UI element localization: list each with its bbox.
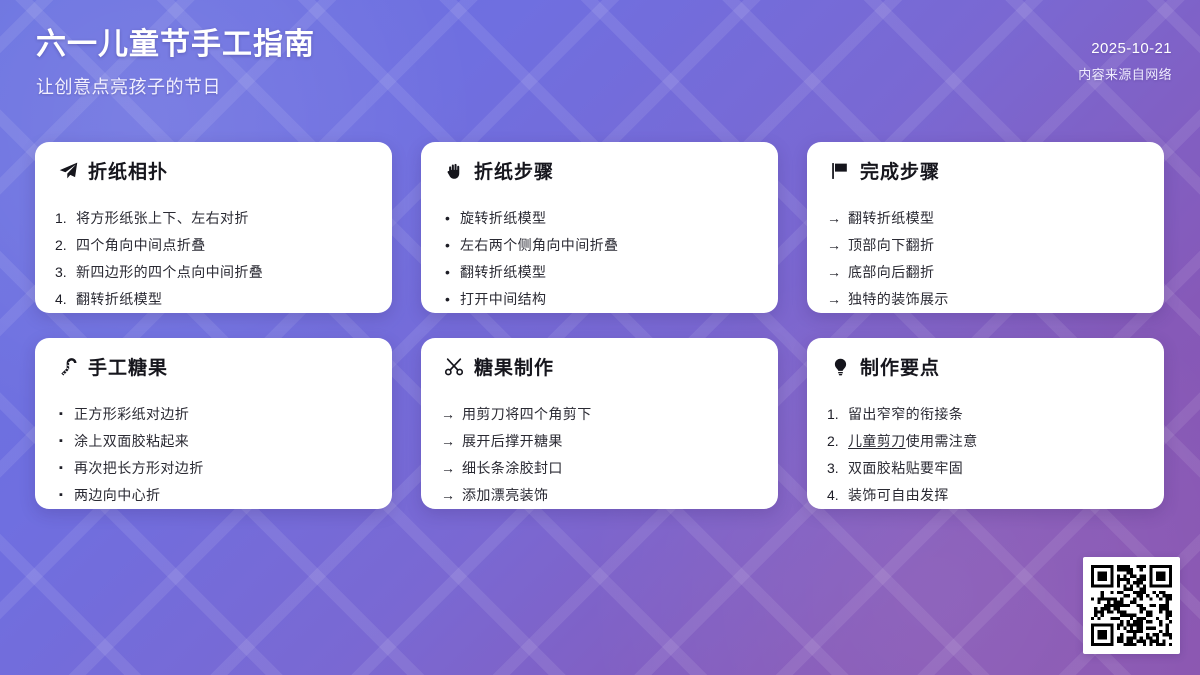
list-item-text: 旋转折纸模型: [460, 209, 758, 227]
list-item-text: 两边向中心折: [74, 486, 372, 504]
header-source: 内容来源自网络: [1078, 64, 1172, 83]
card-list: •旋转折纸模型•左右两个侧角向中间折叠•翻转折纸模型•打开中间结构: [441, 204, 758, 313]
list-item-text: 留出窄窄的衔接条: [848, 405, 1144, 423]
list-marker: •: [441, 236, 460, 254]
flag-icon: [829, 160, 851, 182]
card-grid: 折纸相扑1.将方形纸张上下、左右对折2.四个角向中间点折叠3.新四边形的四个点向…: [35, 142, 1169, 509]
list-item-text[interactable]: 儿童剪刀使用需注意: [848, 432, 1144, 450]
card-title: 完成步骤: [860, 157, 940, 184]
card-list: →翻转折纸模型→顶部向下翻折→底部向后翻折→独特的装饰展示: [827, 204, 1144, 313]
list-item-text: 用剪刀将四个角剪下: [462, 405, 758, 423]
list-marker: 4.: [827, 486, 848, 504]
card-title: 折纸相扑: [88, 157, 168, 184]
list-item: →顶部向下翻折: [827, 231, 1144, 258]
list-marker: →: [827, 290, 848, 308]
list-marker: ▪: [55, 405, 74, 421]
card-header: 制作要点: [827, 353, 1144, 380]
list-item-text: 细长条涂胶封口: [462, 459, 758, 477]
list-marker: 2.: [827, 432, 848, 450]
card-title: 糖果制作: [474, 353, 554, 380]
list-item: •旋转折纸模型: [441, 204, 758, 231]
list-marker: 4.: [55, 290, 76, 308]
card-4: 手工糖果▪正方形彩纸对边折▪涂上双面胶粘起来▪再次把长方形对边折▪两边向中心折: [35, 338, 392, 509]
card-header: 手工糖果: [55, 353, 372, 380]
list-item-text: 打开中间结构: [460, 290, 758, 308]
raised-hand-icon: [443, 160, 465, 182]
list-item: 4.装饰可自由发挥: [827, 482, 1144, 509]
list-marker: •: [441, 263, 460, 281]
list-marker: →: [827, 263, 848, 281]
list-marker: •: [441, 290, 460, 308]
list-item: 2.四个角向中间点折叠: [55, 231, 372, 258]
page-subtitle: 让创意点亮孩子的节日: [36, 73, 315, 99]
list-item-text: 添加漂亮装饰: [462, 486, 758, 504]
list-item-text: 将方形纸张上下、左右对折: [76, 209, 372, 227]
list-item-text: 翻转折纸模型: [460, 263, 758, 281]
list-marker: →: [827, 236, 848, 254]
list-marker: →: [441, 459, 462, 477]
list-item: •左右两个侧角向中间折叠: [441, 231, 758, 258]
list-item: →独特的装饰展示: [827, 286, 1144, 313]
list-item-text: 装饰可自由发挥: [848, 486, 1144, 504]
list-item: →用剪刀将四个角剪下: [441, 400, 758, 427]
list-marker: •: [441, 209, 460, 227]
list-marker: ▪: [55, 459, 74, 475]
list-item-text: 左右两个侧角向中间折叠: [460, 236, 758, 254]
card-title: 手工糖果: [88, 353, 168, 380]
list-marker: 3.: [55, 263, 76, 281]
list-item: →翻转折纸模型: [827, 204, 1144, 231]
list-item-text: 顶部向下翻折: [848, 236, 1144, 254]
list-marker: ▪: [55, 486, 74, 502]
list-item: •翻转折纸模型: [441, 258, 758, 285]
list-item-text: 底部向后翻折: [848, 263, 1144, 281]
list-item-text: 双面胶粘贴要牢固: [848, 459, 1144, 477]
list-item: 3.新四边形的四个点向中间折叠: [55, 258, 372, 285]
list-marker: →: [827, 209, 848, 227]
list-item-text: 再次把长方形对边折: [74, 459, 372, 477]
header-date: 2025-10-21: [1091, 40, 1172, 57]
list-item-text: 正方形彩纸对边折: [74, 405, 372, 423]
list-item-text: 翻转折纸模型: [848, 209, 1144, 227]
list-marker: 2.: [55, 236, 76, 254]
list-item: 1.留出窄窄的衔接条: [827, 400, 1144, 427]
card-list: 1.将方形纸张上下、左右对折2.四个角向中间点折叠3.新四边形的四个点向中间折叠…: [55, 204, 372, 313]
list-item-text: 四个角向中间点折叠: [76, 236, 372, 254]
card-1: 折纸相扑1.将方形纸张上下、左右对折2.四个角向中间点折叠3.新四边形的四个点向…: [35, 142, 392, 313]
list-marker: 1.: [55, 209, 76, 227]
list-item-text: 涂上双面胶粘起来: [74, 432, 372, 450]
card-list: 1.留出窄窄的衔接条2.儿童剪刀使用需注意3.双面胶粘贴要牢固4.装饰可自由发挥: [827, 400, 1144, 509]
candy-cane-icon: [57, 356, 79, 378]
page-title: 六一儿童节手工指南: [36, 26, 315, 64]
list-item: →细长条涂胶封口: [441, 454, 758, 481]
card-title: 折纸步骤: [474, 157, 554, 184]
list-item: ▪正方形彩纸对边折: [55, 400, 372, 427]
card-6: 制作要点1.留出窄窄的衔接条2.儿童剪刀使用需注意3.双面胶粘贴要牢固4.装饰可…: [807, 338, 1164, 509]
list-item-text: 独特的装饰展示: [848, 290, 1144, 308]
list-item-text: 新四边形的四个点向中间折叠: [76, 263, 372, 281]
card-header: 折纸步骤: [441, 157, 758, 184]
list-item: ▪涂上双面胶粘起来: [55, 427, 372, 454]
list-marker: 1.: [827, 405, 848, 423]
qr-code-image: [1091, 565, 1172, 646]
list-item: →展开后撑开糖果: [441, 427, 758, 454]
list-item-text: 展开后撑开糖果: [462, 432, 758, 450]
lightbulb-icon: [829, 356, 851, 378]
list-marker: →: [441, 486, 462, 504]
scissors-icon: [443, 356, 465, 378]
list-item: →底部向后翻折: [827, 258, 1144, 285]
list-item: 4.翻转折纸模型: [55, 286, 372, 313]
header-title-group: 六一儿童节手工指南 让创意点亮孩子的节日: [36, 26, 315, 99]
card-list: →用剪刀将四个角剪下→展开后撑开糖果→细长条涂胶封口→添加漂亮装饰: [441, 400, 758, 509]
poster-page: 六一儿童节手工指南 让创意点亮孩子的节日 2025-10-21 内容来源自网络 …: [0, 0, 1200, 675]
list-marker: ▪: [55, 432, 74, 448]
card-5: 糖果制作→用剪刀将四个角剪下→展开后撑开糖果→细长条涂胶封口→添加漂亮装饰: [421, 338, 778, 509]
list-item: ▪再次把长方形对边折: [55, 454, 372, 481]
card-3: 完成步骤→翻转折纸模型→顶部向下翻折→底部向后翻折→独特的装饰展示: [807, 142, 1164, 313]
list-item: →添加漂亮装饰: [441, 482, 758, 509]
list-item: •打开中间结构: [441, 286, 758, 313]
card-list: ▪正方形彩纸对边折▪涂上双面胶粘起来▪再次把长方形对边折▪两边向中心折: [55, 400, 372, 509]
list-item-text: 翻转折纸模型: [76, 290, 372, 308]
card-2: 折纸步骤•旋转折纸模型•左右两个侧角向中间折叠•翻转折纸模型•打开中间结构: [421, 142, 778, 313]
card-header: 折纸相扑: [55, 157, 372, 184]
list-marker: 3.: [827, 459, 848, 477]
list-marker: →: [441, 405, 462, 423]
list-item: 2.儿童剪刀使用需注意: [827, 427, 1144, 454]
list-marker: →: [441, 432, 462, 450]
header-meta-group: 2025-10-21 内容来源自网络: [1078, 26, 1172, 83]
list-item: ▪两边向中心折: [55, 482, 372, 509]
page-header: 六一儿童节手工指南 让创意点亮孩子的节日 2025-10-21 内容来源自网络: [0, 0, 1200, 118]
paper-plane-icon: [57, 160, 79, 182]
list-item: 3.双面胶粘贴要牢固: [827, 454, 1144, 481]
card-header: 完成步骤: [827, 157, 1144, 184]
qr-code[interactable]: [1083, 557, 1180, 654]
list-item: 1.将方形纸张上下、左右对折: [55, 204, 372, 231]
card-header: 糖果制作: [441, 353, 758, 380]
card-title: 制作要点: [860, 353, 940, 380]
